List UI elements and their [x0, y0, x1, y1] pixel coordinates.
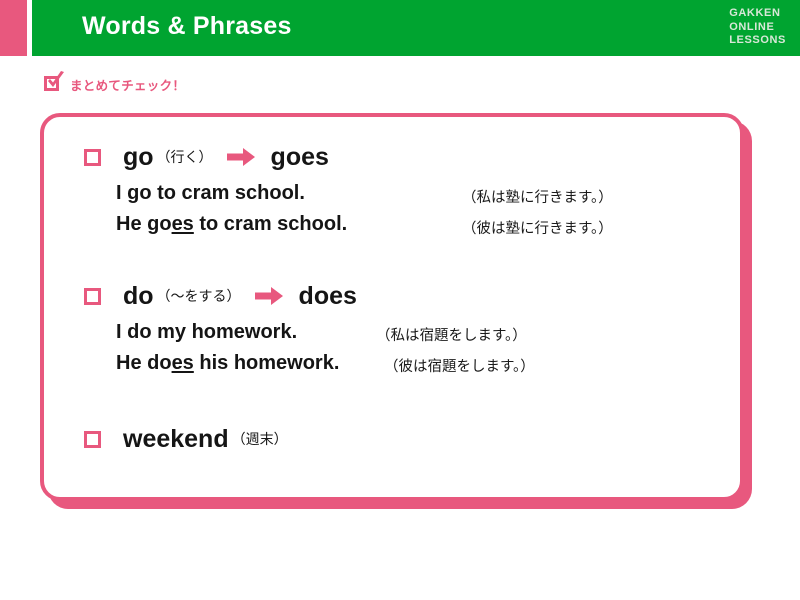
term-gloss: （週末） [232, 429, 288, 449]
example-sentence: I go to cram school. [116, 182, 305, 205]
header-accent-tab [0, 0, 27, 56]
page-title: Words & Phrases [82, 12, 292, 41]
sentence-pre: I go to cram school. [116, 182, 305, 204]
vocab-entry-weekend: weekend （週末） [44, 422, 740, 456]
content-panel: go （行く） goes I go to cram school. （私は塾に行… [40, 113, 744, 501]
sentence-post: to cram school. [194, 213, 347, 235]
example-row: I do my homework. （私は宿題をします。） [44, 321, 740, 344]
example-sentence: He does his homework. [116, 352, 339, 375]
example-row: He goes to cram school. （彼は塾に行きます。） [44, 213, 740, 236]
brand-line-3: LESSONS [729, 34, 786, 48]
content-panel-wrapper: go （行く） goes I go to cram school. （私は塾に行… [40, 113, 752, 509]
example-row: He does his homework. （彼は宿題をします。） [44, 352, 740, 375]
checkbox-empty-icon[interactable] [84, 149, 101, 166]
example-translation: （私は宿題をします。） [376, 324, 527, 345]
right-arrow-icon [255, 287, 283, 305]
term-gloss: （～をする） [157, 286, 241, 306]
sentence-pre: He go [116, 213, 172, 235]
checkmark-glyph [45, 71, 66, 92]
check-badge-label: まとめてチェック！ [70, 75, 185, 94]
example-translation: （私は塾に行きます。） [462, 186, 613, 207]
sentence-pre: I do my homework. [116, 321, 297, 343]
entry-heading: weekend （週末） [44, 422, 740, 456]
brand-line-1: GAKKEN [729, 7, 786, 21]
checkbox-checked-icon [44, 74, 64, 94]
brand-logo: GAKKEN ONLINE LESSONS [729, 7, 786, 48]
vocab-entry-do: do （～をする） does I do my homework. （私は宿題をし… [44, 279, 740, 375]
sentence-underlined: es [172, 352, 194, 374]
term-gloss: （行く） [157, 147, 213, 167]
entry-heading: do （～をする） does [44, 279, 740, 313]
sentence-underlined: es [172, 213, 194, 235]
term-word: go [123, 145, 154, 170]
term-word: weekend [123, 425, 229, 454]
checkbox-empty-icon[interactable] [84, 288, 101, 305]
check-badge: まとめてチェック！ [44, 74, 185, 94]
vocab-entry-go: go （行く） goes I go to cram school. （私は塾に行… [44, 140, 740, 236]
slide-header: Words & Phrases GAKKEN ONLINE LESSONS [0, 0, 800, 56]
entry-heading: go （行く） goes [44, 140, 740, 174]
example-row: I go to cram school. （私は塾に行きます。） [44, 182, 740, 205]
term-inflected: goes [271, 143, 329, 172]
right-arrow-icon [227, 148, 255, 166]
example-translation: （彼は宿題をします。） [384, 355, 535, 376]
checkbox-empty-icon[interactable] [84, 431, 101, 448]
brand-line-2: ONLINE [729, 21, 786, 35]
example-translation: （彼は塾に行きます。） [462, 217, 613, 238]
term-inflected: does [299, 282, 357, 311]
sentence-post: his homework. [194, 352, 340, 374]
term-word: do [123, 284, 154, 309]
sentence-pre: He do [116, 352, 172, 374]
example-sentence: He goes to cram school. [116, 213, 347, 236]
example-sentence: I do my homework. [116, 321, 297, 344]
